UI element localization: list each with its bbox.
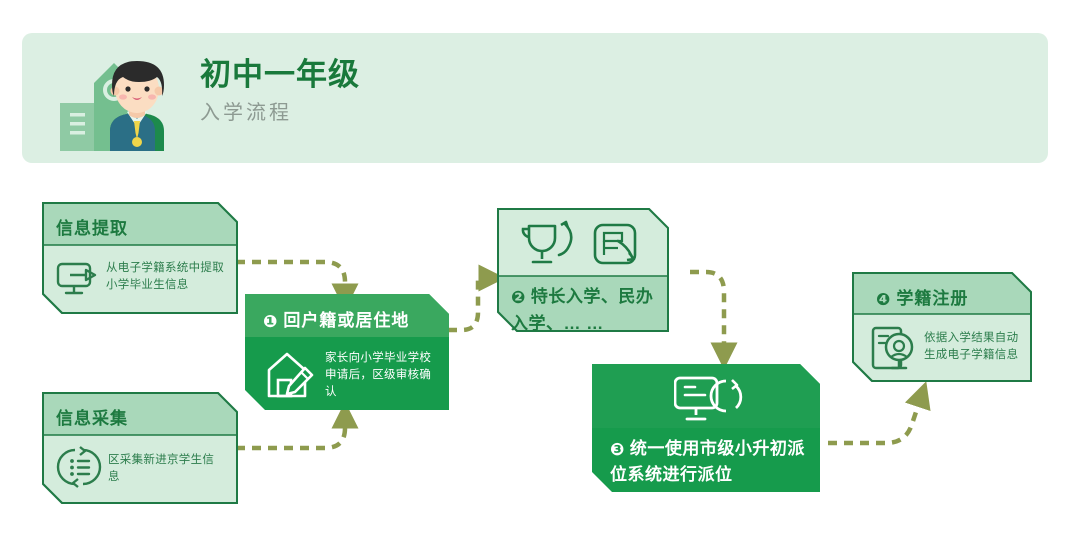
step-number-badge: ❸ <box>610 437 625 462</box>
page-title: 初中一年级 <box>200 55 360 95</box>
card-info-collect[interactable]: 信息采集 区采集新进京学生信息 <box>42 392 238 504</box>
step-card-3[interactable]: ❸统一使用市级小升初派位系统进行派位 <box>592 364 820 492</box>
conn-extract-to-step1 <box>236 262 345 297</box>
conn-collect-to-step1 <box>236 415 345 448</box>
step-body-text: 依据入学结果自动生成电子学籍信息 <box>924 330 1024 364</box>
page-subtitle: 入学流程 <box>200 97 360 129</box>
card-body-text: 区采集新进京学生信息 <box>108 452 222 486</box>
step-header-text: 学籍注册 <box>896 289 968 308</box>
card-body-text: 从电子学籍系统中提取小学毕业生信息 <box>106 260 224 294</box>
step-header-label: ❹学籍注册 <box>876 284 968 310</box>
student-school-illustration <box>52 47 172 151</box>
page-banner: 初中一年级 入学流程 <box>22 33 1048 163</box>
step-body-label: 统一使用市级小升初派位系统进行派位 <box>610 439 805 484</box>
conn-step3-to-step4 <box>828 394 922 443</box>
card-header-label: 信息采集 <box>56 404 128 429</box>
banner-text-block: 初中一年级 入学流程 <box>200 55 360 129</box>
card-header-label: 信息提取 <box>56 214 128 239</box>
step-body-text: ❷特长入学、民办入学、… … <box>511 284 657 337</box>
step-card-1[interactable]: ❶回户籍或居住地 家长向小学毕业学校申请后，区级审核确认 <box>245 294 449 410</box>
step-header-text: 回户籍或居住地 <box>283 311 409 330</box>
step-card-4[interactable]: ❹学籍注册 依据入学结果自动生成电子学籍信息 <box>852 272 1032 382</box>
step-body-label: 特长入学、民办入学、… … <box>511 287 653 333</box>
step-header-label: ❶回户籍或居住地 <box>263 306 409 332</box>
step-number-badge: ❷ <box>511 285 526 311</box>
step-body-text: 家长向小学毕业学校申请后，区级审核确认 <box>325 350 435 401</box>
conn-step1-to-step2 <box>448 278 492 330</box>
conn-step2-to-step3 <box>690 272 724 356</box>
step-number-badge: ❹ <box>876 290 891 310</box>
step-card-2[interactable]: ❷特长入学、民办入学、… … <box>497 208 669 332</box>
flowchart-canvas: 初中一年级 入学流程 信息提取 <box>0 0 1080 536</box>
step-body-text: ❸统一使用市级小升初派位系统进行派位 <box>610 436 810 487</box>
step-number-badge: ❶ <box>263 312 278 332</box>
card-info-extract[interactable]: 信息提取 从电子学籍系统中提取小学毕业生信息 <box>42 202 238 314</box>
